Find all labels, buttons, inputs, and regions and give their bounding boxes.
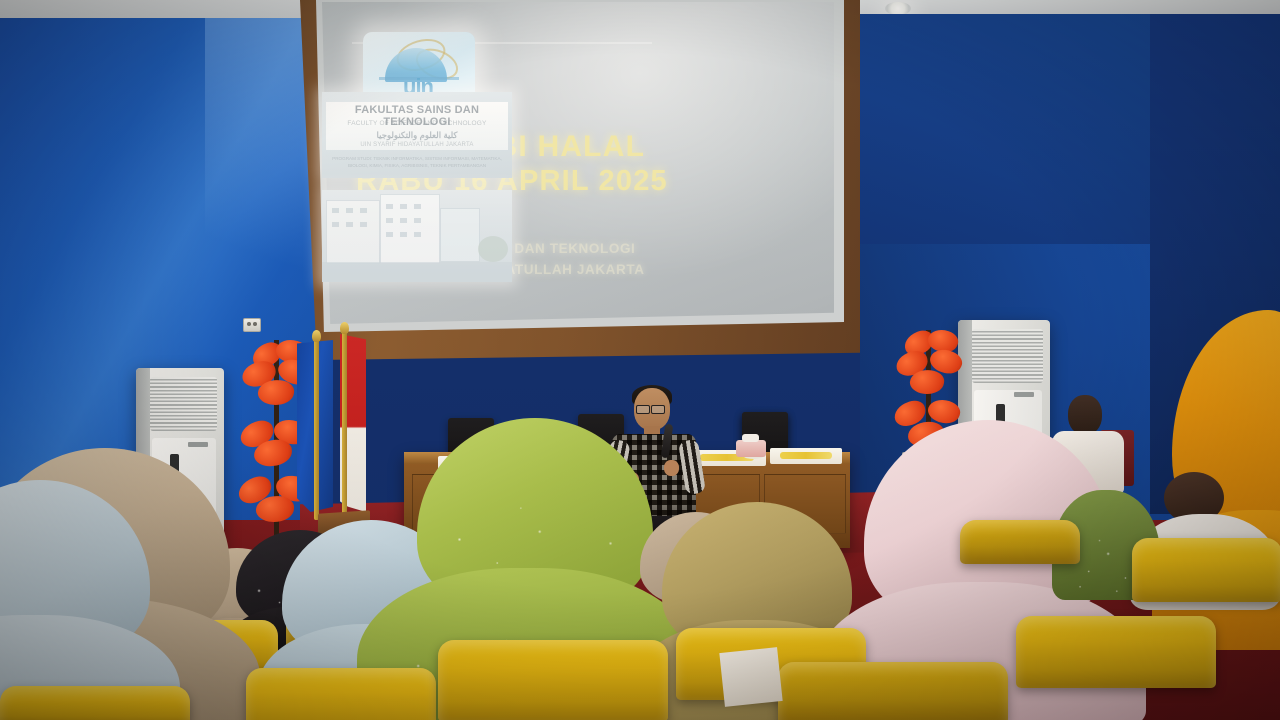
auditorium-seat: [246, 668, 436, 720]
ac-brand-logo: [188, 442, 208, 447]
banner-arabic-line: كلية العلوم والتكنولوجيا: [328, 130, 506, 141]
slide-banner-photo: FAKULTAS SAINS DAN TEKNOLOGI FACULTY OF …: [322, 92, 512, 178]
power-socket: [243, 318, 261, 332]
flag-pole: [342, 330, 347, 520]
banner-subheading: FACULTY OF SCIENCE AND TECHNOLOGY: [328, 120, 506, 127]
tree-icon: [478, 236, 508, 262]
ac-brand-logo: [1014, 392, 1034, 397]
auditorium-seat: [778, 662, 1008, 720]
attendee-lightblue-hijab: [0, 480, 170, 720]
auditorium-seat: [960, 520, 1080, 564]
banner-small-line: UIN SYARIF HIDAYATULLAH JAKARTA: [328, 142, 506, 148]
building-block: [440, 208, 480, 262]
slide-building-photo: [322, 190, 512, 282]
auditorium-seat: [0, 686, 190, 720]
building-ground: [322, 262, 512, 282]
paper-bag: [719, 647, 782, 707]
ac-grille: [972, 329, 1043, 383]
eyeglasses-icon: [651, 405, 665, 414]
tissue-sheet: [742, 434, 759, 442]
auditorium-seat: [438, 640, 668, 720]
flag-pole-finial-icon: [312, 330, 321, 342]
table-runner: [770, 448, 842, 464]
tissue-box: [736, 440, 766, 457]
flag-pole-finial-icon: [340, 322, 349, 334]
photo-scene: HALAL BI HALAL RABU 16 APRIL 2025 FAKULT…: [0, 0, 1280, 720]
banner-caption: PROGRAM STUDI: TEKNIK INFORMATIKA, SISTE…: [332, 156, 502, 170]
flag-pole: [314, 338, 319, 520]
auditorium-seat: [1132, 538, 1280, 602]
ac-grille: [150, 377, 217, 431]
eyeglasses-icon: [636, 405, 650, 414]
auditorium-seat: [1016, 616, 1216, 688]
